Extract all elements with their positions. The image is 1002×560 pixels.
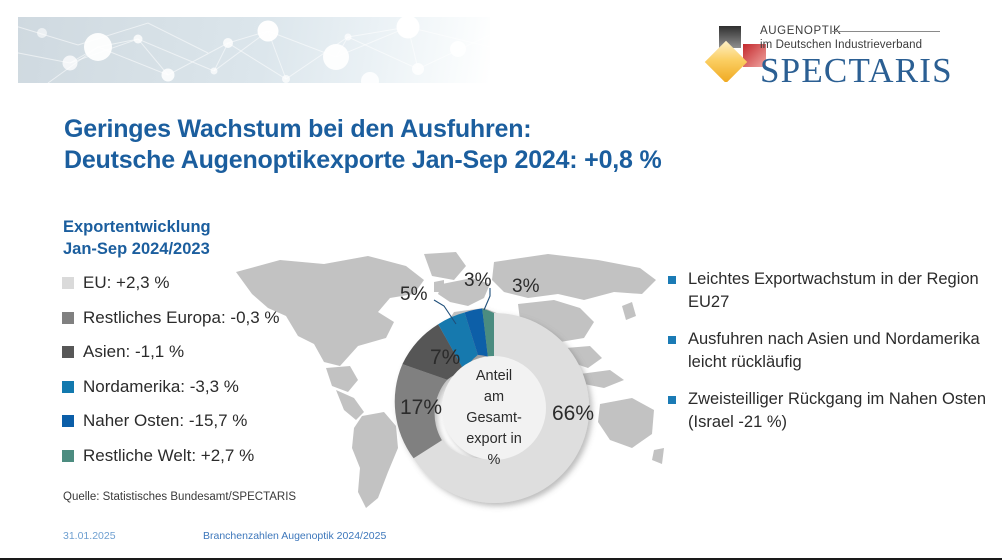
donut-value-label-eu: 66%: [552, 402, 594, 425]
legend-item-restliches-europa[interactable]: Restliches Europa: -0,3 %: [62, 307, 352, 342]
logo-tagline-top: AUGENOPTIK: [760, 24, 920, 38]
legend-item-naher-osten[interactable]: Naher Osten: -15,7 %: [62, 410, 352, 445]
page-title: Geringes Wachstum bei den Ausfuhren: Deu…: [64, 114, 844, 176]
source-note: Quelle: Statistisches Bundesamt/SPECTARI…: [63, 491, 296, 503]
legend-swatch-icon: [62, 312, 74, 324]
legend-swatch-icon: [62, 381, 74, 393]
logo-tagline-bottom: im Deutschen Industrieverband: [760, 38, 920, 52]
insight-item: Zweisteilliger Rückgang im Nahen Osten (…: [668, 388, 988, 433]
legend-swatch-icon: [62, 450, 74, 462]
donut-center-line-4: export in: [466, 431, 522, 447]
logo-rule: [832, 31, 940, 32]
insight-item: Ausfuhren nach Asien und Nordamerika lei…: [668, 328, 988, 373]
donut-value-label-restliche-welt: 3%: [512, 276, 540, 297]
logo-wordmark: SPECTARIS: [760, 53, 920, 89]
donut-value-label-naher-osten: 3%: [464, 270, 492, 291]
legend-swatch-icon: [62, 277, 74, 289]
logo-tagline-top-text: AUGENOPTIK: [760, 25, 841, 37]
donut-value-label-restliches-europa: 17%: [400, 396, 442, 419]
logo-text-block: AUGENOPTIK im Deutschen Industrieverband…: [760, 24, 920, 89]
legend-item-asien[interactable]: Asien: -1,1 %: [62, 341, 352, 376]
legend-item-nordamerika[interactable]: Nordamerika: -3,3 %: [62, 376, 352, 411]
chart-legend: EU: +2,3 % Restliches Europa: -0,3 % Asi…: [62, 272, 352, 479]
legend-item-label: Asien: -1,1 %: [83, 341, 184, 363]
footer-document-title: Branchenzahlen Augenoptik 2024/2025: [203, 530, 386, 542]
page-title-line-1: Geringes Wachstum bei den Ausfuhren:: [64, 114, 844, 145]
bullet-square-icon: [668, 336, 676, 344]
insight-item: Leichtes Exportwachstum in der Region EU…: [668, 268, 988, 313]
donut-center-line-3: Gesamt-: [466, 410, 522, 426]
legend-item-label: Naher Osten: -15,7 %: [83, 410, 247, 432]
header-banner-graphic: [18, 17, 490, 83]
donut-center-line-2: am: [484, 389, 504, 405]
bullet-square-icon: [668, 276, 676, 284]
legend-item-label: EU: +2,3 %: [83, 272, 169, 294]
legend-swatch-icon: [62, 346, 74, 358]
page-title-line-2: Deutsche Augenoptikexporte Jan-Sep 2024:…: [64, 145, 844, 176]
spectaris-logo: AUGENOPTIK im Deutschen Industrieverband…: [702, 24, 910, 86]
donut-chart: 66% 17% 7% 5% 3% 3% Anteil am Gesamt- ex…: [372, 262, 624, 516]
legend-item-restliche-welt[interactable]: Restliche Welt: +2,7 %: [62, 445, 352, 480]
insight-text: Leichtes Exportwachstum in der Region EU…: [688, 268, 988, 313]
insight-text: Zweisteilliger Rückgang im Nahen Osten (…: [688, 388, 988, 433]
donut-value-label-asien: 7%: [430, 346, 460, 369]
insights-list: Leichtes Exportwachstum in der Region EU…: [668, 268, 988, 448]
legend-swatch-icon: [62, 415, 74, 427]
legend-item-eu[interactable]: EU: +2,3 %: [62, 272, 352, 307]
legend-item-label: Restliche Welt: +2,7 %: [83, 445, 254, 467]
bullet-square-icon: [668, 396, 676, 404]
legend-item-label: Nordamerika: -3,3 %: [83, 376, 239, 398]
insight-text: Ausfuhren nach Asien und Nordamerika lei…: [688, 328, 988, 373]
footer-date: 31.01.2025: [63, 530, 116, 542]
legend-item-label: Restliches Europa: -0,3 %: [83, 307, 280, 329]
donut-value-label-nordamerika: 5%: [400, 284, 428, 305]
donut-center-line-5: %: [488, 452, 501, 468]
donut-center-line-1: Anteil: [476, 368, 512, 384]
chart-subtitle-line-1: Exportentwicklung: [63, 216, 323, 238]
